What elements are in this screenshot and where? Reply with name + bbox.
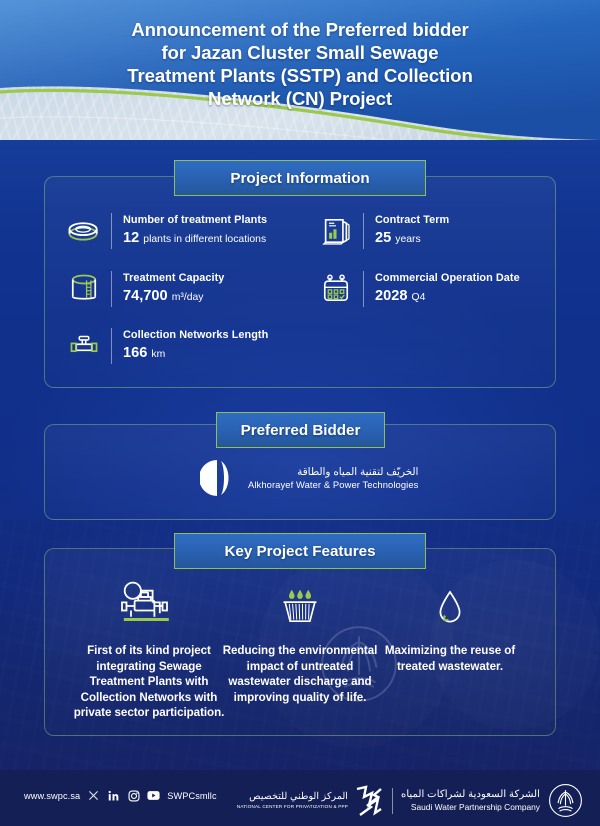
- contract-document-icon: [315, 210, 357, 252]
- water-drop-recycle-icon: [370, 572, 530, 634]
- treatment-plant-icon: [63, 210, 105, 252]
- title-line: Network (CN) Project: [60, 87, 540, 110]
- info-unit: Q4: [412, 292, 426, 303]
- info-label: Commercial Operation Date: [375, 271, 520, 286]
- feature-item: First of its kind project integrating Se…: [69, 572, 229, 721]
- info-item-contract-term: Contract Term 25 years: [315, 210, 449, 252]
- pipe-valve-icon: [63, 325, 105, 367]
- footer-social-group: www.swpc.sa: [24, 789, 217, 802]
- info-value: 25: [375, 230, 391, 246]
- social-handle: SWPCsmllc: [167, 791, 216, 801]
- info-unit: m³/day: [172, 292, 204, 303]
- info-value: 12: [123, 230, 139, 246]
- info-item-treatment-plants: Number of treatment Plants 12 plants in …: [63, 210, 267, 252]
- infographic-page: Announcement of the Preferred bidder for…: [0, 0, 600, 826]
- swpc-name-english: Saudi Water Partnership Company: [401, 801, 540, 813]
- swpc-palm-emblem-icon: [547, 782, 584, 819]
- project-information-badge: Project Information: [174, 160, 426, 196]
- info-label: Contract Term: [375, 213, 449, 228]
- header-banner: Announcement of the Preferred bidder for…: [0, 0, 600, 140]
- youtube-icon[interactable]: [147, 789, 160, 802]
- footer-logo-group: المركز الوطني للتخصيص NATIONAL CENTER FO…: [237, 782, 584, 819]
- info-label: Number of treatment Plants: [123, 213, 267, 228]
- feature-text: Reducing the environmental impact of unt…: [220, 643, 380, 705]
- water-tank-icon: [63, 268, 105, 310]
- title-line: for Jazan Cluster Small Sewage: [60, 41, 540, 64]
- alkhorayef-logo: [200, 458, 238, 498]
- info-label: Treatment Capacity: [123, 271, 224, 286]
- item-divider: [111, 213, 112, 249]
- x-twitter-icon[interactable]: [87, 789, 100, 802]
- item-divider: [363, 213, 364, 249]
- preferred-bidder-logo: الخريّف لتقنية المياه والطاقة Alkhorayef…: [200, 458, 418, 498]
- instagram-icon[interactable]: [127, 789, 140, 802]
- swpc-logo-text: الشركة السعودية لشراكات المياه Saudi Wat…: [401, 788, 540, 813]
- info-value: 74,700: [123, 288, 168, 304]
- ncp-logo-text: المركز الوطني للتخصيص NATIONAL CENTER FO…: [237, 791, 348, 810]
- calendar-icon: [315, 268, 357, 310]
- feature-text: First of its kind project integrating Se…: [69, 643, 229, 721]
- info-unit: plants in different locations: [143, 234, 266, 245]
- website-link[interactable]: www.swpc.sa: [24, 791, 80, 801]
- title-line: Announcement of the Preferred bidder: [60, 18, 540, 41]
- feature-text: Maximizing the reuse of treated wastewat…: [370, 643, 530, 674]
- ncp-name-english: NATIONAL CENTER FOR PRIVATIZATION & PPP: [237, 803, 348, 810]
- pump-station-icon: [69, 572, 229, 634]
- info-item-treatment-capacity: Treatment Capacity 74,700 m³/day: [63, 268, 224, 310]
- bidder-name-english: Alkhorayef Water & Power Technologies: [248, 479, 418, 491]
- footer-bar: www.swpc.sa: [0, 770, 600, 826]
- badge-label: Key Project Features: [224, 543, 375, 560]
- info-value: 166: [123, 345, 147, 361]
- linkedin-icon[interactable]: [107, 789, 120, 802]
- logo-divider: [392, 788, 393, 814]
- info-value: 2028: [375, 288, 407, 304]
- info-unit: years: [395, 234, 420, 245]
- badge-label: Project Information: [230, 170, 369, 187]
- bidder-name-arabic: الخريّف لتقنية المياه والطاقة: [248, 466, 418, 479]
- feature-item: Maximizing the reuse of treated wastewat…: [370, 572, 530, 674]
- item-divider: [111, 328, 112, 364]
- swpc-name-arabic: الشركة السعودية لشراكات المياه: [401, 788, 540, 801]
- ncp-name-arabic: المركز الوطني للتخصيص: [237, 791, 348, 803]
- item-divider: [363, 271, 364, 307]
- title-line: Treatment Plants (SSTP) and Collection: [60, 64, 540, 87]
- info-item-commercial-operation-date: Commercial Operation Date 2028 Q4: [315, 268, 520, 310]
- item-divider: [111, 271, 112, 307]
- page-title: Announcement of the Preferred bidder for…: [60, 18, 540, 110]
- ncp-emblem-icon: [354, 785, 384, 817]
- filter-droplets-icon: [220, 572, 380, 634]
- badge-label: Preferred Bidder: [241, 422, 361, 439]
- key-project-features-badge: Key Project Features: [174, 533, 426, 569]
- info-label: Collection Networks Length: [123, 328, 268, 343]
- info-unit: km: [151, 349, 165, 360]
- info-item-collection-networks-length: Collection Networks Length 166 km: [63, 325, 268, 367]
- preferred-bidder-badge: Preferred Bidder: [216, 412, 385, 448]
- feature-item: Reducing the environmental impact of unt…: [220, 572, 380, 705]
